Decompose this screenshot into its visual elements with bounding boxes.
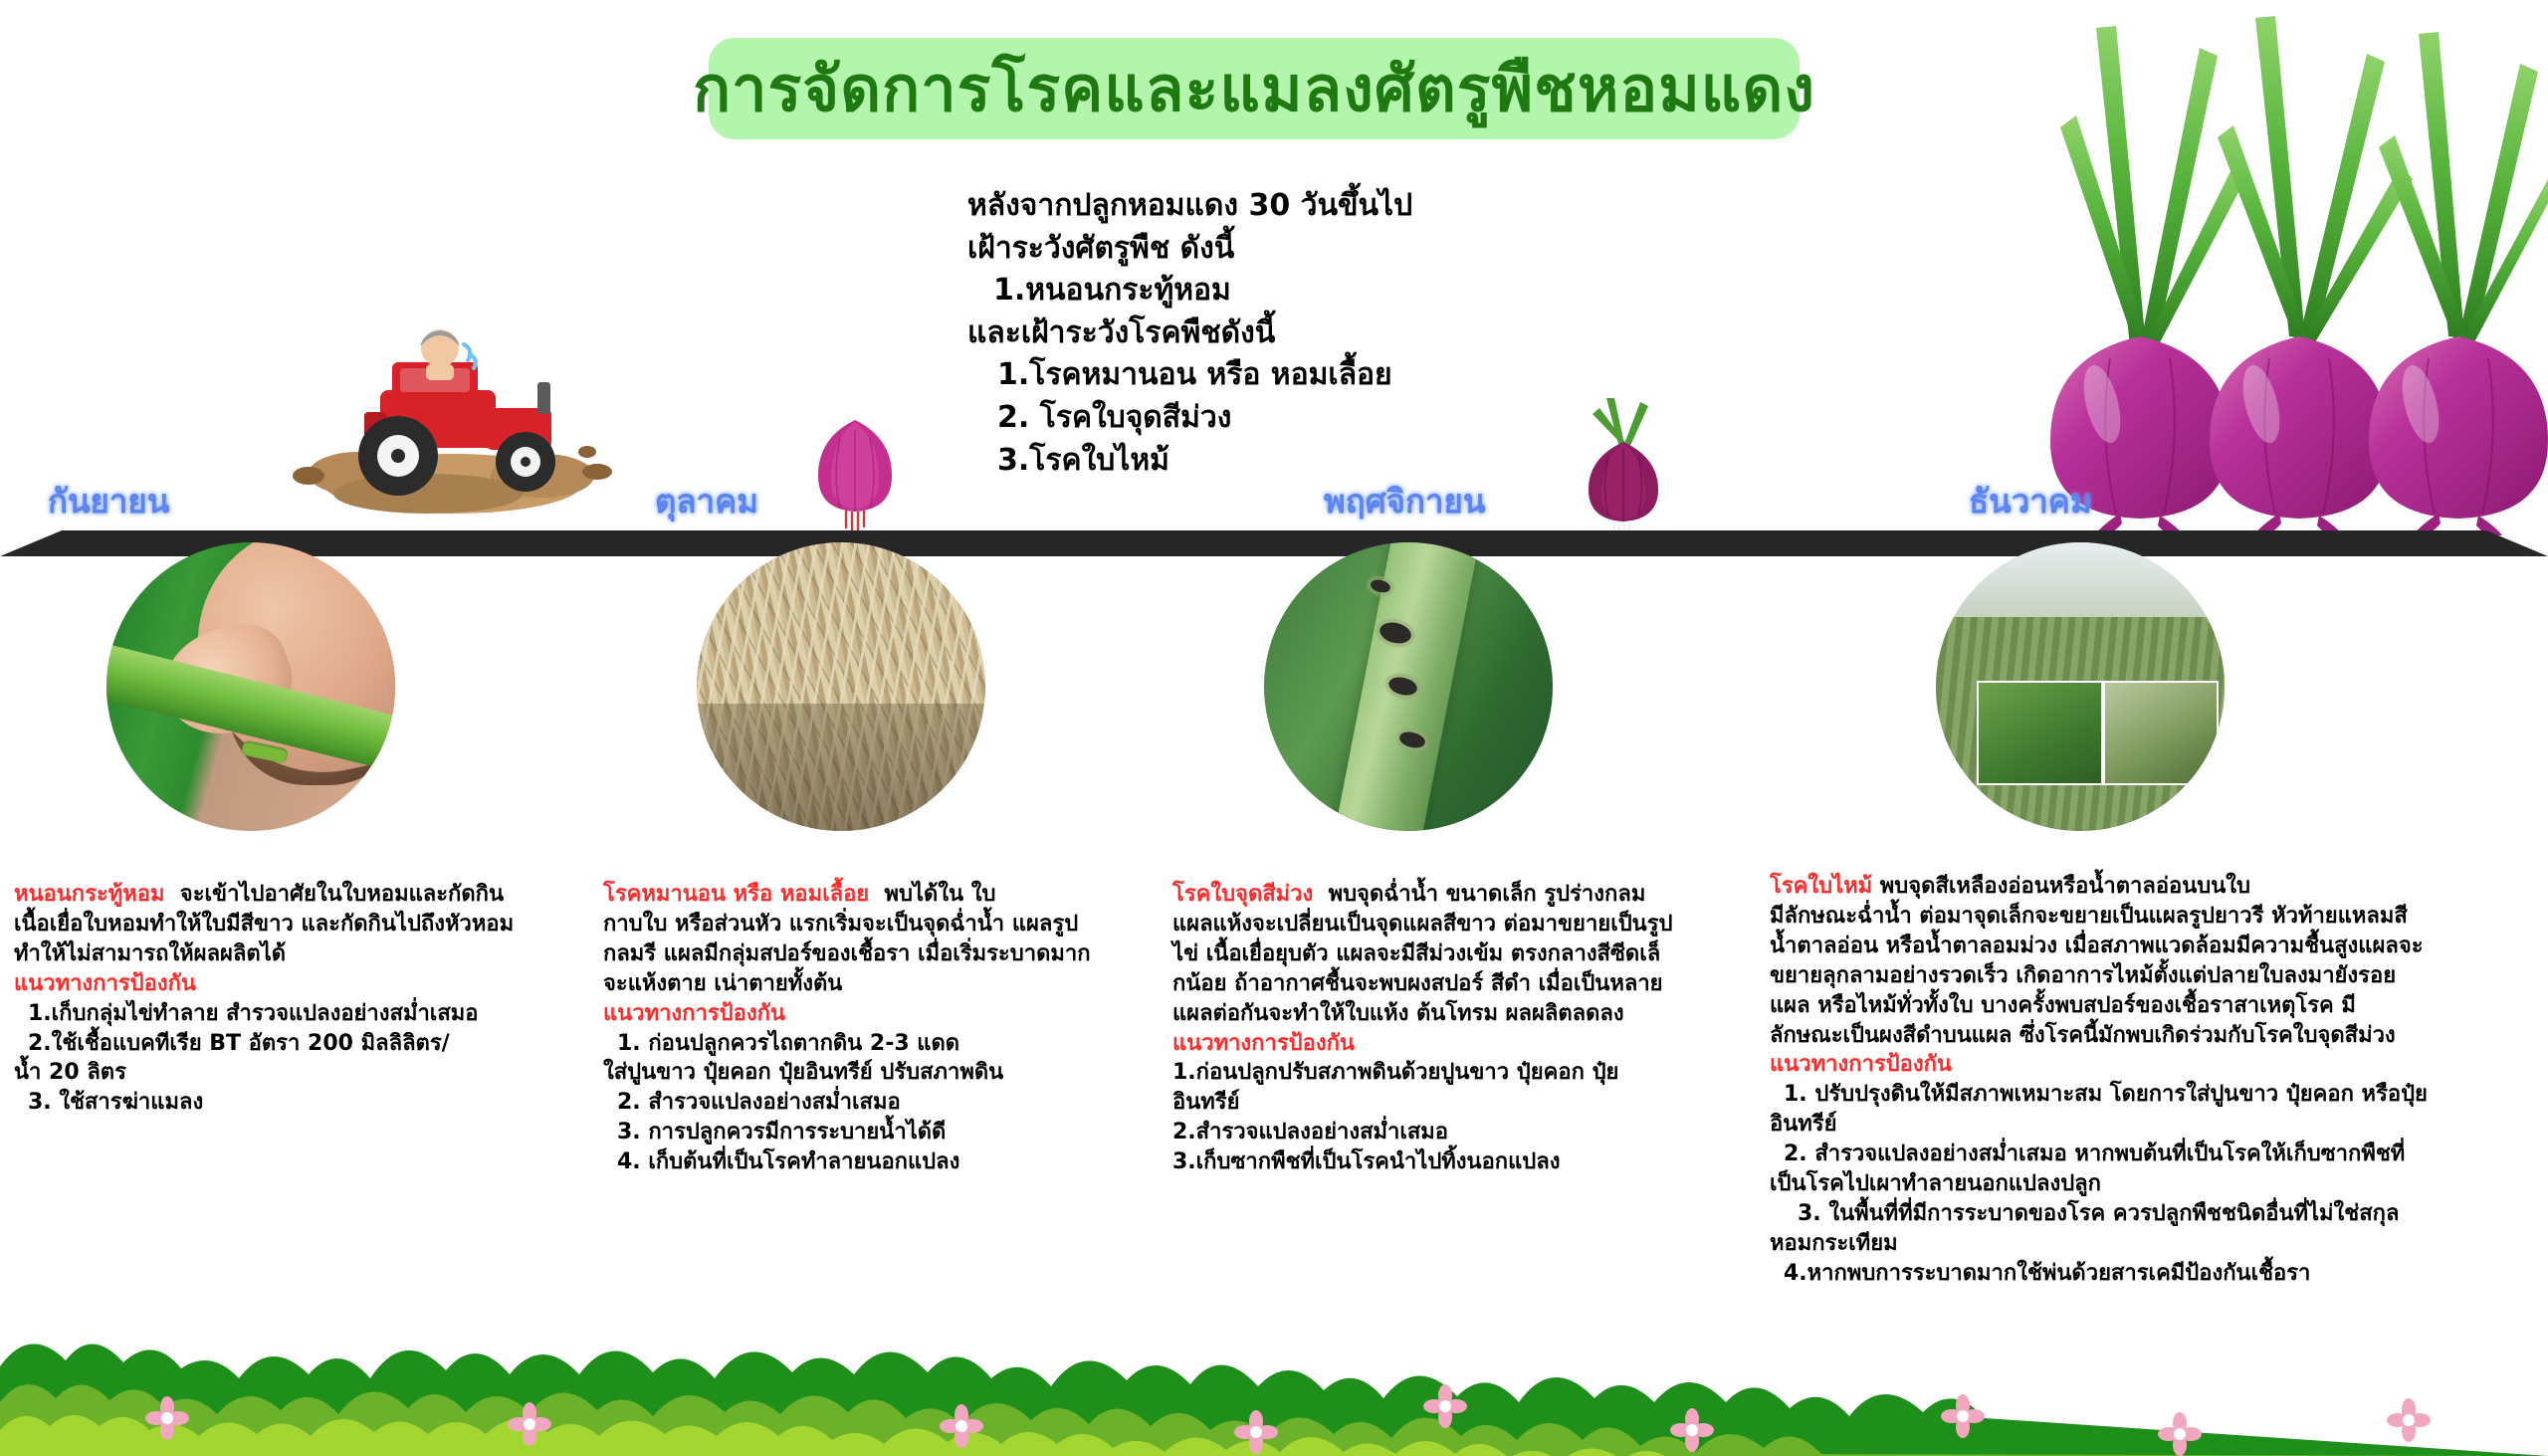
pest-prevention-heading: แนวทางการป้องกัน [14, 969, 591, 999]
pest-prevention-item-3: 3. ใช้สารฆ่าแมลง [14, 1088, 591, 1118]
disease3-body-line-3: น้ำตาลอ่อน หรือน้ำตาลอมม่วง เมื่อสภาพแวด… [1770, 932, 2536, 961]
photo-leaf-blight-field [1936, 542, 2225, 831]
bush-flower-border [0, 1307, 2548, 1456]
pest-body-line-2: เนื้อเยื่อใบหอมทำให้ใบมีสีขาว และกัดกินไ… [14, 910, 591, 939]
pest-prevention-item-2-cont: น้ำ 20 ลิตร [14, 1058, 591, 1088]
disease1-body-line-3: กลมรี แผลมีกลุ่มสปอร์ของเชื้อรา เมื่อเริ… [603, 939, 1153, 969]
disease3-prevention-heading: แนวทางการป้องกัน [1770, 1050, 2536, 1080]
disease3-intro-line: โรคใบไหม้ พบจุดสีเหลืองอ่อนหรือน้ำตาลอ่อ… [1770, 872, 2536, 902]
pest-prevention-item-2: 2.ใช้เชื้อแบคทีเรีย BT อัตรา 200 มิลลิลิ… [14, 1029, 591, 1059]
disease3-prevention-item-1: 1. ปรับปรุงดินให้มีสภาพเหมาะสม โดยการใส่… [1770, 1080, 2536, 1110]
intro-line-1: หลังจากปลูกหอมแดง 30 วันขึ้นไป [967, 185, 1664, 228]
month-label-september: กันยายน [48, 475, 169, 527]
title-banner: การจัดการโรคและแมลงศัตรูพืชหอมแดง [709, 38, 1800, 139]
intro-line-6: 2. โรคใบจุดสีม่วง [967, 397, 1664, 440]
disease3-prevention-item-3: 3. ในพื้นที่ที่มีการระบาดของโรค ควรปลูกพ… [1770, 1199, 2536, 1229]
pest-body-line-3: ทำให้ไม่สามารถให้ผลผลิตได้ [14, 939, 591, 969]
disease1-prevention-item-1-cont: ใส่ปูนขาว ปุ๋ยคอก ปุ๋ยอินทรีย์ ปรับสภาพด… [603, 1058, 1153, 1088]
disease3-body-line-4: ขยายลุกลามอย่างรวดเร็ว เกิดอาการไหม้ตั้ง… [1770, 961, 2536, 991]
disease2-body-line-4: กน้อย ถ้าอากาศชื้นจะพบผงสปอร์ สีดำ เมื่อ… [1172, 969, 1740, 999]
disease1-prevention-item-3: 3. การปลูกควรมีการระบายน้ำได้ดี [603, 1118, 1153, 1147]
disease2-prevention-item-2: 2.สำรวจแปลงอย่างสม่ำเสมอ [1172, 1118, 1740, 1147]
disease1-body-line-4: จะแห้งตาย เน่าตายทั้งต้น [603, 969, 1153, 999]
intro-line-2: เฝ้าระวังศัตรูพืช ดังนี้ [967, 228, 1664, 271]
intro-line-7: 3.โรคใบไหม้ [967, 440, 1664, 483]
disease1-prevention-item-4: 4. เก็บต้นที่เป็นโรคทำลายนอกแปลง [603, 1147, 1153, 1177]
disease3-prevention-item-3-cont: หอมกระเทียม [1770, 1229, 2536, 1259]
disease2-body-line-1: พบจุดฉ่ำน้ำ ขนาดเล็ก รูปร่างกลม [1329, 882, 1646, 907]
disease2-prevention-item-3: 3.เก็บซากพืชที่เป็นโรคนำไปทิ้งนอกแปลง [1172, 1147, 1740, 1177]
disease1-prevention-item-1: 1. ก่อนปลูกควรไถตากดิน 2-3 แดด [603, 1029, 1153, 1059]
disease1-intro-line: โรคหมานอน หรือ หอมเลื้อย พบได้ใน ใบ [603, 880, 1153, 910]
disease2-prevention-item-1: 1.ก่อนปลูกปรับสภาพดินด้วยปูนขาว ปุ๋ยคอก … [1172, 1058, 1740, 1088]
shallot-bulb-icon-november [1589, 398, 1658, 543]
pest-heading: หนอนกระทู้หอม [14, 882, 164, 907]
disease1-prevention-item-2: 2. สำรวจแปลงอย่างสม่ำเสมอ [603, 1088, 1153, 1118]
page-title: การจัดการโรคและแมลงศัตรูพืชหอมแดง [693, 58, 1815, 120]
disease1-prevention-heading: แนวทางการป้องกัน [603, 999, 1153, 1029]
infographic-canvas: การจัดการโรคและแมลงศัตรูพืชหอมแดง หลังจา… [0, 0, 2548, 1456]
disease3-prevention-item-4: 4.หากพบการระบาดมากใช้พ่นด้วยสารเคมีป้องก… [1770, 1259, 2536, 1289]
pest-intro-line: หนอนกระทู้หอม จะเข้าไปอาศัยในใบหอมและกัด… [14, 880, 591, 910]
column-disease-purple-blotch: โรคใบจุดสีม่วง พบจุดฉ่ำน้ำ ขนาดเล็ก รูปร… [1172, 880, 1740, 1177]
disease3-prevention-item-2-cont: เป็นโรคไปเผาทำลายนอกแปลงปลูก [1770, 1169, 2536, 1199]
month-label-october: ตุลาคม [655, 475, 758, 527]
photo-beet-armyworm-on-leaf [106, 542, 395, 831]
pest-prevention-item-1: 1.เก็บกลุ่มไข่ทำลาย สำรวจแปลงอย่างสม่ำเส… [14, 999, 591, 1029]
pest-body-line-1: จะเข้าไปอาศัยในใบหอมและกัดกิน [180, 882, 504, 907]
disease2-body-line-3: ไข่ เนื้อเยื่อยุบตัว แผลจะมีสีม่วงเข้ม ต… [1172, 939, 1740, 969]
disease1-body-line-2: กาบใบ หรือส่วนหัว แรกเริ่มจะเป็นจุดฉ่ำน้… [603, 910, 1153, 939]
disease3-body-line-1: พบจุดสีเหลืองอ่อนหรือน้ำตาลอ่อนบนใบ [1880, 874, 2250, 899]
disease1-heading: โรคหมานอน หรือ หอมเลื้อย [603, 882, 869, 907]
column-pest-armyworm: หนอนกระทู้หอม จะเข้าไปอาศัยในใบหอมและกัด… [14, 880, 591, 1118]
tractor-plowing-icon [289, 316, 617, 516]
disease2-prevention-heading: แนวทางการป้องกัน [1172, 1029, 1740, 1059]
disease3-prevention-item-2: 2. สำรวจแปลงอย่างสม่ำเสมอ หากพบต้นที่เป็… [1770, 1140, 2536, 1169]
month-label-december: ธันวาคม [1969, 475, 2092, 527]
disease2-heading: โรคใบจุดสีม่วง [1172, 882, 1313, 907]
photo-purple-blotch-leaf [1264, 542, 1553, 831]
intro-text-block: หลังจากปลูกหอมแดง 30 วันขึ้นไป เฝ้าระวัง… [967, 185, 1664, 482]
intro-line-4: และเฝ้าระวังโรคพืชดังนี้ [967, 312, 1664, 355]
disease3-body-line-6: ลักษณะเป็นผงสีดำบนแผล ซึ่งโรคนี้มักพบเกิ… [1770, 1021, 2536, 1051]
shallot-plants-cluster-icon [2050, 8, 2548, 535]
disease2-prevention-item-1-cont: อินทรีย์ [1172, 1088, 1740, 1118]
disease3-body-line-5: แผล หรือไหม้ทั่วทั้งใบ บางครั้งพบสปอร์ขอ… [1770, 991, 2536, 1021]
disease2-intro-line: โรคใบจุดสีม่วง พบจุดฉ่ำน้ำ ขนาดเล็ก รูปร… [1172, 880, 1740, 910]
month-label-november: พฤศจิกายน [1324, 475, 1485, 527]
disease3-body-line-2: มีลักษณะฉ่ำน้ำ ต่อมาจุดเล็กจะขยายเป็นแผล… [1770, 902, 2536, 932]
disease1-body-line-1: พบได้ใน ใบ [885, 882, 996, 907]
disease2-body-line-2: แผลแห้งจะเปลี่ยนเป็นจุดแผลสีขาว ต่อมาขยา… [1172, 910, 1740, 939]
column-disease-damping-off: โรคหมานอน หรือ หอมเลื้อย พบได้ใน ใบ กาบใ… [603, 880, 1153, 1177]
photo-dry-straw-field [697, 542, 985, 831]
intro-line-5: 1.โรคหมานอน หรือ หอมเลื้อย [967, 354, 1664, 397]
disease3-prevention-item-1-cont: อินทรีย์ [1770, 1110, 2536, 1140]
disease2-body-line-5: แผลต่อกันจะทำให้ใบแห้ง ต้นโทรม ผลผลิตลดล… [1172, 999, 1740, 1029]
disease3-heading: โรคใบไหม้ [1770, 874, 1872, 899]
intro-line-3: 1.หนอนกระทู้หอม [967, 270, 1664, 312]
shallot-bulb-icon-october [818, 420, 892, 531]
column-disease-leaf-blight: โรคใบไหม้ พบจุดสีเหลืองอ่อนหรือน้ำตาลอ่อ… [1770, 872, 2536, 1289]
